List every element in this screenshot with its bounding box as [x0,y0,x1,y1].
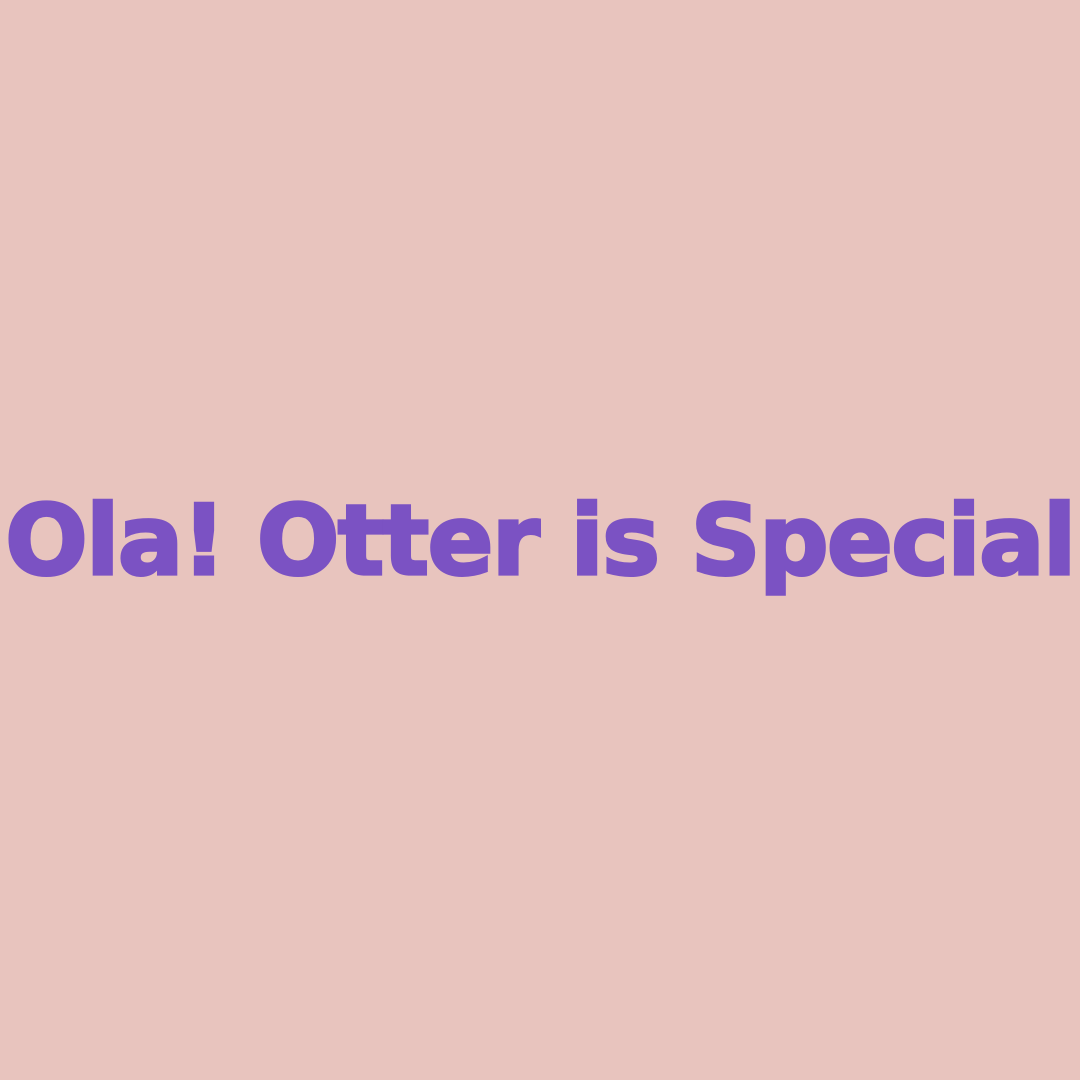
poster-canvas: Ola! Otter is Special [0,0,1080,1080]
headline-block: Ola! Otter is Special [0,432,1080,648]
headline-text: Ola! Otter is Special [5,492,1075,589]
